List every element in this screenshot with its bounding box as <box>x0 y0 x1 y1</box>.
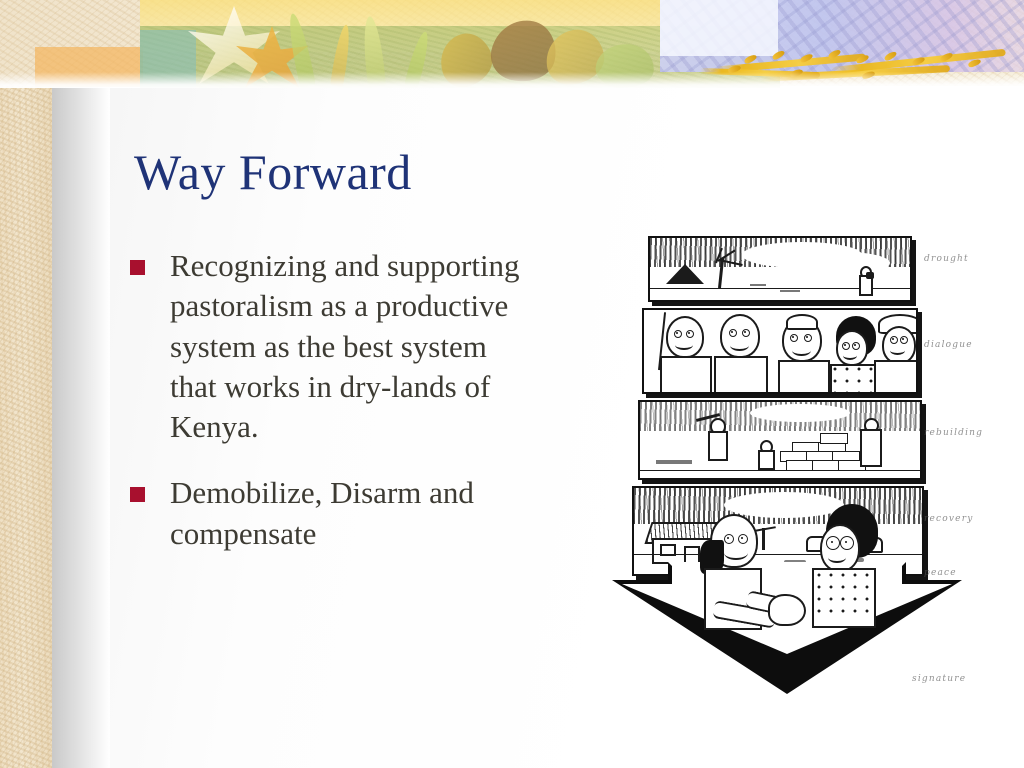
torso <box>714 356 768 394</box>
person-body <box>860 429 882 467</box>
eye <box>804 334 812 342</box>
torso <box>874 360 918 394</box>
patterned-blouse <box>816 572 870 620</box>
smile <box>890 346 905 355</box>
panel-side-label: rebuilding <box>924 428 983 438</box>
ground-speck <box>656 460 692 464</box>
banner-bottom-fade <box>0 72 1024 88</box>
eye <box>790 334 798 342</box>
ground-line <box>640 470 920 471</box>
eye <box>852 342 860 350</box>
ground-speck <box>780 290 800 292</box>
hut-icon <box>666 264 704 284</box>
brick <box>820 433 848 444</box>
person-body <box>758 450 775 470</box>
eye <box>729 329 737 337</box>
eye <box>890 336 898 344</box>
banner-pale-stone-patch <box>660 0 778 56</box>
eye <box>900 336 908 344</box>
artist-signature: signature <box>912 674 966 684</box>
clasped-hands-icon <box>768 594 806 626</box>
smile <box>724 546 748 560</box>
cartoon-panel-drought <box>648 236 912 302</box>
cartoon-panel-dialogue <box>642 308 918 394</box>
head <box>820 524 860 572</box>
smile <box>792 345 811 356</box>
eye <box>742 329 750 337</box>
left-edge-shadow <box>52 86 110 768</box>
left-parchment-band <box>0 0 52 768</box>
eye <box>738 534 748 544</box>
smile <box>675 340 693 350</box>
page-title: Way Forward <box>134 146 654 199</box>
panel-side-label: peace <box>924 568 957 578</box>
headband <box>786 314 818 330</box>
list-item: Demobilize, Disarm and compensate <box>130 473 520 554</box>
cloud-shape <box>800 252 890 274</box>
person-body <box>708 431 728 461</box>
list-item: Recognizing and supporting pastoralism a… <box>130 246 520 447</box>
eye <box>686 330 694 338</box>
list-item-label: Recognizing and supporting pastoralism a… <box>170 246 520 447</box>
cartoon-panel-peace-arrowhead <box>612 562 962 694</box>
eye <box>842 342 850 350</box>
torso <box>660 356 712 394</box>
head <box>666 316 704 358</box>
panel-side-label: dialogue <box>924 340 973 350</box>
decorative-header-banner <box>0 0 1024 88</box>
ground-speck <box>750 284 766 286</box>
cartoon-panel-rebuilding <box>638 400 922 480</box>
handshake-scene <box>670 504 906 676</box>
torso <box>778 360 830 394</box>
panel-side-label: drought <box>924 254 969 264</box>
eye <box>674 330 682 338</box>
cartoon-flow-arrow-diagram: drought dialogue rebuilding recovery pea… <box>612 232 962 700</box>
smile <box>828 552 846 563</box>
head <box>720 314 760 358</box>
list-item-label: Demobilize, Disarm and compensate <box>170 473 520 554</box>
cloud-shape <box>750 404 850 422</box>
spectacles-icon <box>826 536 840 550</box>
person-bundle <box>866 272 874 279</box>
patterned-blouse <box>832 366 878 394</box>
bullet-list: Recognizing and supporting pastoralism a… <box>130 246 520 580</box>
eye <box>724 534 734 544</box>
square-bullet-icon <box>130 487 145 502</box>
spectacles-icon <box>840 536 854 550</box>
head <box>882 326 916 364</box>
smile <box>730 340 749 351</box>
smile <box>843 351 857 360</box>
square-bullet-icon <box>130 260 145 275</box>
panel-side-label: recovery <box>924 514 974 524</box>
presentation-slide: Way Forward Recognizing and supporting p… <box>0 0 1024 768</box>
